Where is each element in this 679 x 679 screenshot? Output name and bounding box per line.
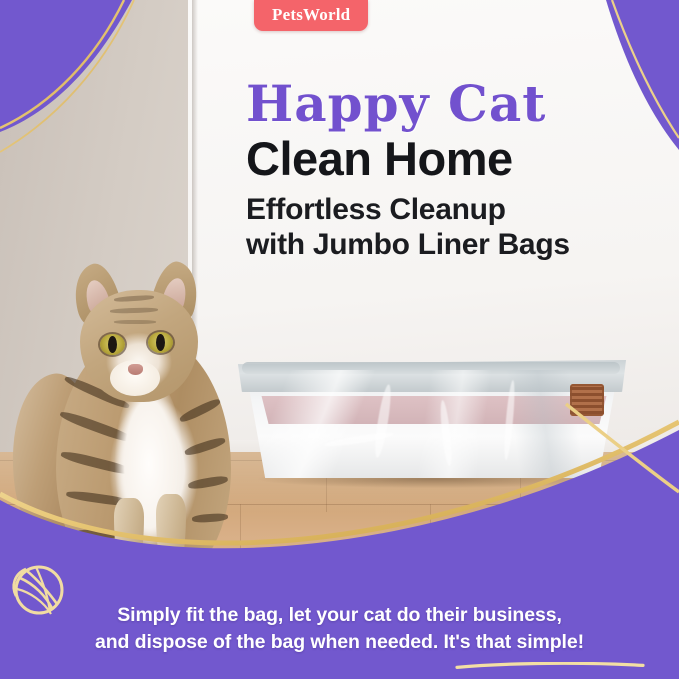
litter-box-photo — [228, 344, 638, 486]
product-banner: PetsWorld Happy Cat Clean Home Effortles… — [0, 0, 679, 679]
caption-block: Simply fit the bag, let your cat do thei… — [0, 602, 679, 657]
cat-photo — [18, 138, 258, 538]
headline-block: Happy Cat Clean Home Effortless Cleanup … — [246, 78, 666, 263]
brand-logo-badge[interactable]: PetsWorld — [254, 0, 368, 31]
headline-secondary: Clean Home — [246, 134, 666, 184]
caption-line-2: and dispose of the bag when needed. It's… — [0, 629, 679, 657]
liner-bag-sheen — [238, 370, 626, 478]
subheadline-line-2: with Jumbo Liner Bags — [246, 227, 666, 262]
headline-primary: Happy Cat — [246, 78, 666, 130]
subheadline-line-1: Effortless Cleanup — [246, 192, 666, 227]
caption-line-1: Simply fit the bag, let your cat do thei… — [0, 602, 679, 630]
